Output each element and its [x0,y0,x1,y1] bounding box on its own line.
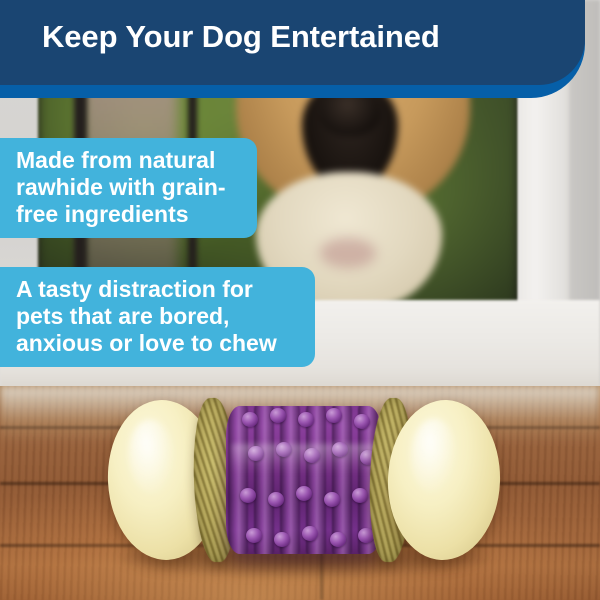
dog-chest-marking [320,238,376,268]
end-cap-highlight [127,419,176,495]
header-banner: Keep Your Dog Entertained [0,0,600,98]
callout-line: anxious or love to chew [16,330,301,357]
ridged-barrel [226,406,382,554]
barrel-nub [242,412,258,427]
barrel-highlight [232,444,376,474]
barrel-nub [354,414,370,429]
callout-natural-rawhide: Made from natural rawhide with grain- fr… [0,138,257,238]
end-cap-highlight [410,418,457,493]
barrel-nub [240,488,256,503]
callout-line: rawhide with grain- [16,174,243,201]
barrel-nub [326,408,342,423]
barrel-nub [298,412,314,427]
barrel-nub [324,492,340,507]
product-chew-toy [108,392,500,572]
barrel-nub [246,528,262,543]
callout-line: Made from natural [16,147,243,174]
callout-line: free ingredients [16,201,243,228]
promo-image: Keep Your Dog Entertained Made from natu… [0,0,600,600]
callout-line: A tasty distraction for [16,276,301,303]
barrel-nub [330,532,346,547]
barrel-nub [302,526,318,541]
callout-line: pets that are bored, [16,303,301,330]
barrel-nub [270,408,286,423]
barrel-nub [274,532,290,547]
barrel-ridge [228,406,248,554]
page-title: Keep Your Dog Entertained [42,19,440,55]
barrel-nub [268,492,284,507]
barrel-nub [352,488,368,503]
barrel-nub [296,486,312,501]
callout-tasty-distraction: A tasty distraction for pets that are bo… [0,267,315,367]
